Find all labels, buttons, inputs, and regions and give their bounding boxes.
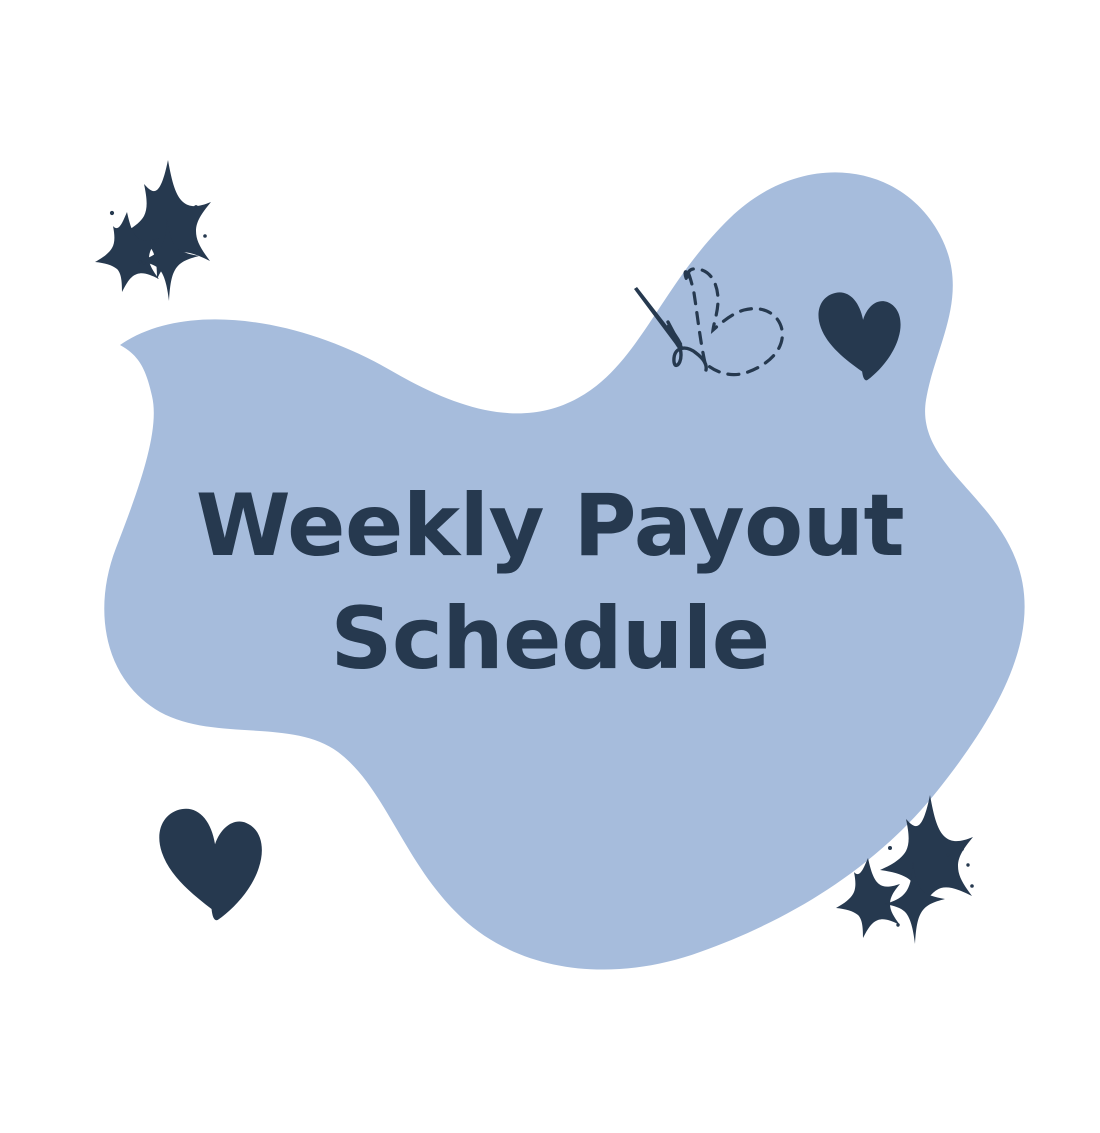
- sparkle-dot: [946, 853, 949, 856]
- sparkle-dot: [966, 863, 969, 866]
- sparkle-dot: [139, 261, 142, 264]
- poster-canvas: Weekly Payout Schedule: [0, 0, 1100, 1133]
- sparkle-dot: [194, 205, 198, 209]
- sparkle-dot: [970, 884, 974, 888]
- sparkle-dot: [896, 923, 899, 926]
- poster-artwork: [0, 0, 1100, 1133]
- heart-solid-bottom-left: [156, 801, 269, 925]
- heart-icon: [156, 801, 269, 925]
- star-cluster-top-left: [95, 160, 211, 301]
- sparkle-dot: [142, 261, 145, 264]
- sparkle-dot: [203, 234, 207, 238]
- sparkle-dot: [184, 253, 188, 257]
- sparkle-dot: [110, 211, 114, 215]
- sparkle-dot: [888, 846, 892, 850]
- sparkle-dot: [960, 847, 964, 851]
